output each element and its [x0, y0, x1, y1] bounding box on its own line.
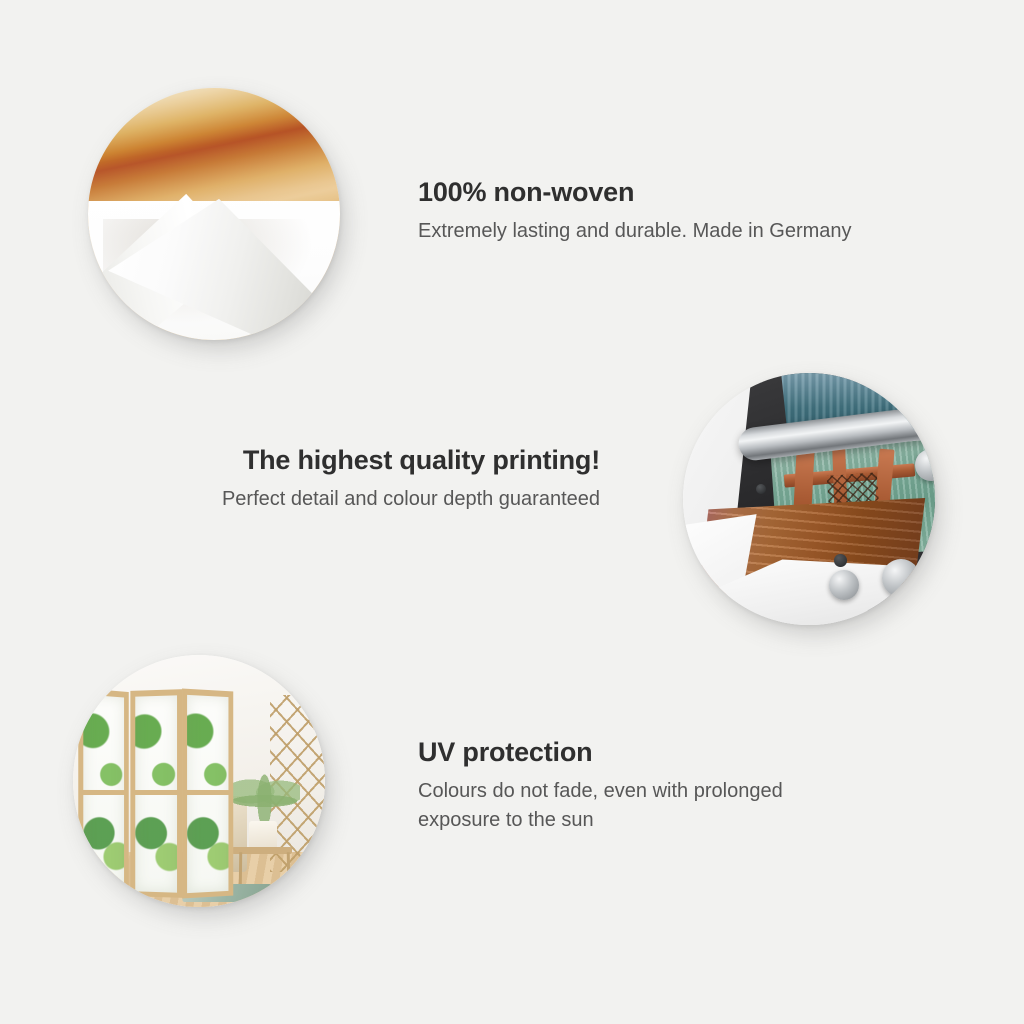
- feature-image-uv-protection: [73, 655, 325, 907]
- feature-subtitle-non-woven: Extremely lasting and durable. Made in G…: [418, 217, 858, 245]
- divider-panel-2: [130, 689, 182, 897]
- feature-heading-printing: The highest quality printing!: [180, 444, 600, 476]
- feature-text-non-woven: 100% non-woven Extremely lasting and dur…: [418, 176, 858, 246]
- feature-banner: 100% non-woven Extremely lasting and dur…: [0, 0, 1024, 1024]
- feature-subtitle-printing: Perfect detail and colour depth guarante…: [180, 485, 600, 513]
- feature-subtitle-uv-protection: Colours do not fade, even with prolonged…: [418, 777, 818, 834]
- press-bolt-lower: [834, 554, 847, 567]
- non-woven-wallpaper-artwork: [88, 88, 340, 340]
- room-divider-artwork: [73, 655, 325, 907]
- divider-panel-3: [182, 689, 233, 899]
- feature-image-non-woven: [88, 88, 340, 340]
- divider-panel-1: [78, 688, 129, 899]
- side-table-legs: [239, 852, 291, 887]
- press-knob-left: [829, 570, 859, 600]
- folding-room-divider: [78, 690, 234, 897]
- feature-text-uv-protection: UV protection Colours do not fade, even …: [418, 736, 818, 834]
- feature-heading-uv-protection: UV protection: [418, 736, 818, 768]
- press-knob-right: [882, 559, 920, 597]
- feature-heading-non-woven: 100% non-woven: [418, 176, 858, 208]
- printing-press-artwork: [683, 373, 935, 625]
- feature-text-printing: The highest quality printing! Perfect de…: [180, 444, 600, 514]
- feature-image-printing: [683, 373, 935, 625]
